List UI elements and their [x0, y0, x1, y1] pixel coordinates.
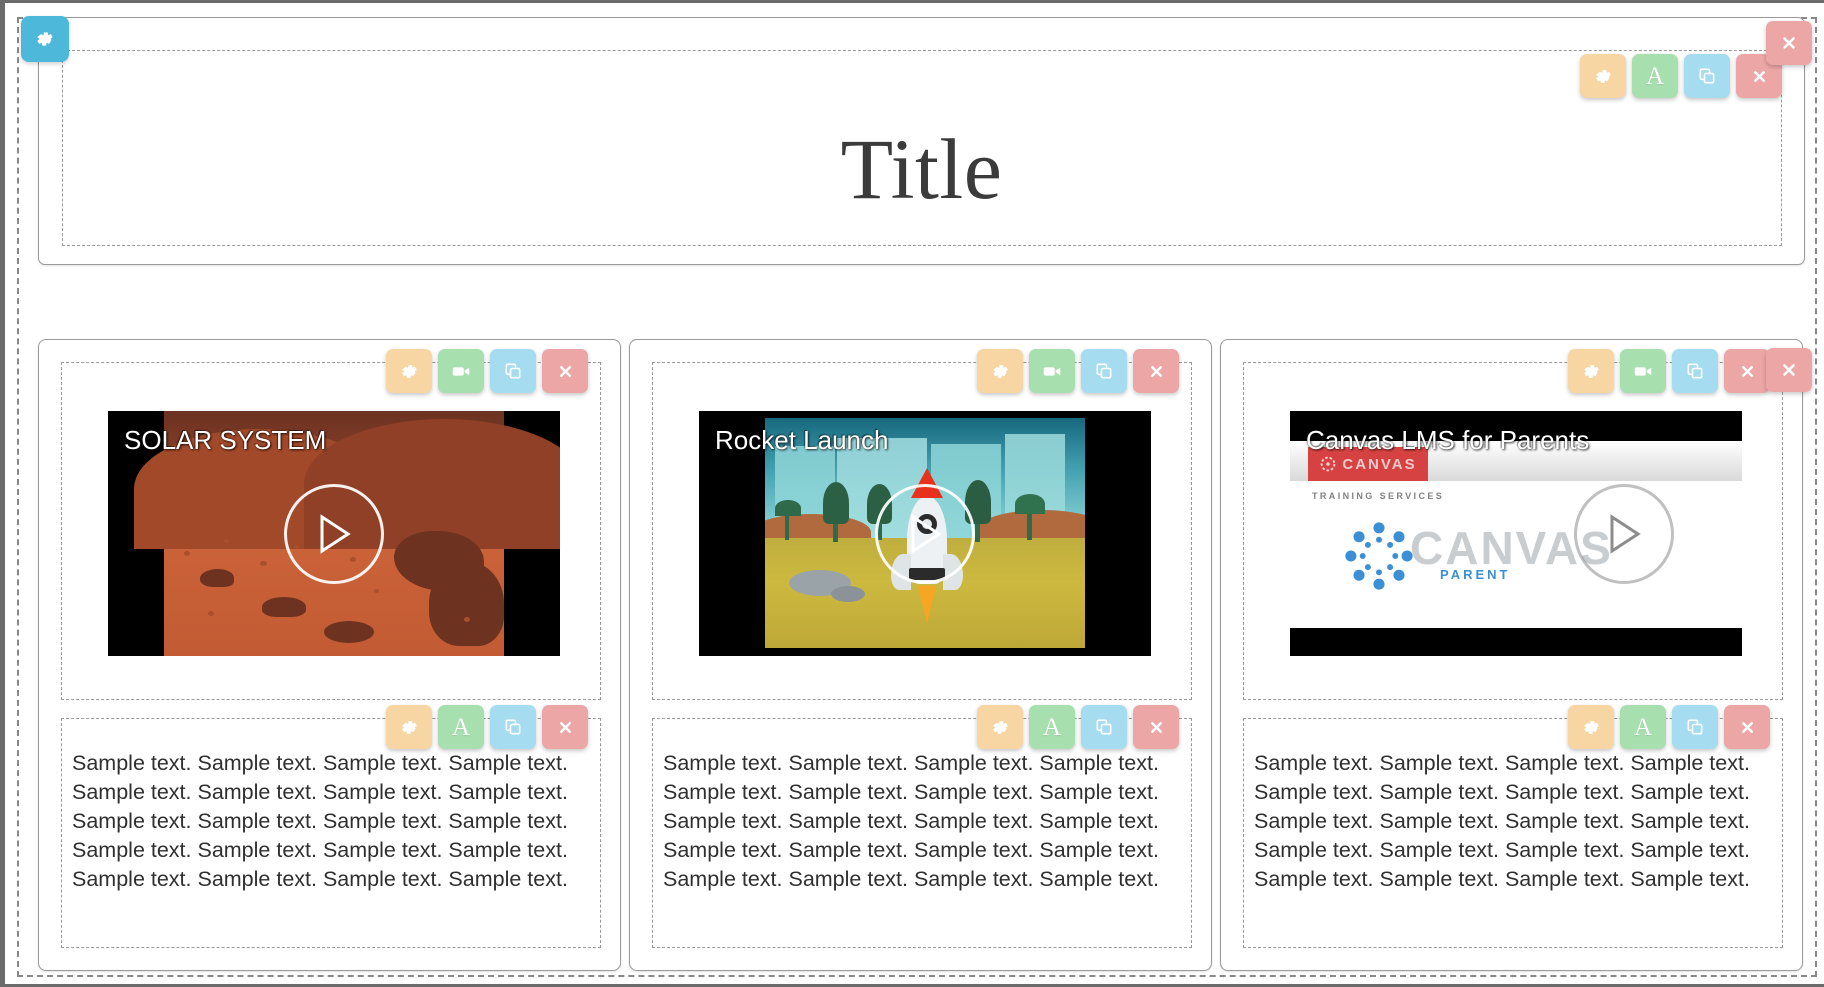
close-cards-section-button[interactable]: [1766, 348, 1812, 392]
duplicate-icon: [1685, 361, 1705, 381]
text-toolbar: A: [386, 705, 588, 749]
text-button[interactable]: A: [438, 705, 484, 749]
close-icon: [1739, 363, 1756, 380]
duplicate-button[interactable]: [1081, 705, 1127, 749]
media-toolbar: [1568, 349, 1770, 393]
video-button[interactable]: [1620, 349, 1666, 393]
gear-icon: [1594, 67, 1613, 86]
card-solar-system[interactable]: SOLAR SYSTEM: [38, 339, 621, 971]
canvas-logo-text: CANVAS: [1342, 456, 1416, 473]
editor-canvas: A Title: [0, 0, 1824, 987]
canvas-parent-label: PARENT: [1440, 567, 1510, 582]
video-button[interactable]: [438, 349, 484, 393]
play-button[interactable]: [875, 484, 975, 584]
gear-icon: [35, 29, 55, 49]
text-format-icon: A: [1043, 715, 1061, 740]
gear-icon: [400, 718, 419, 737]
media-toolbar: [977, 349, 1179, 393]
video-title: SOLAR SYSTEM: [124, 425, 326, 456]
canvas-mark-icon: [1319, 455, 1337, 473]
video-title: Canvas LMS for Parents: [1306, 425, 1589, 456]
text-toolbar: A: [1568, 705, 1770, 749]
card-rocket-launch[interactable]: Rocket Launch: [629, 339, 1212, 971]
text-placeholder[interactable]: A Sample text. Sample text. Sam: [652, 718, 1192, 948]
settings-button[interactable]: [1568, 349, 1614, 393]
play-icon: [314, 512, 354, 556]
duplicate-button[interactable]: [1672, 705, 1718, 749]
media-toolbar: [386, 349, 588, 393]
play-button[interactable]: [284, 484, 384, 584]
video-thumbnail[interactable]: SOLAR SYSTEM: [108, 411, 560, 656]
settings-button[interactable]: [386, 349, 432, 393]
video-camera-icon: [1041, 360, 1063, 382]
gear-icon: [1582, 362, 1601, 381]
canvas-subtitle: TRAINING SERVICES: [1312, 491, 1444, 501]
close-title-section-button[interactable]: [1766, 21, 1812, 65]
delete-button[interactable]: [1724, 705, 1770, 749]
video-camera-icon: [450, 360, 472, 382]
close-icon: [1751, 68, 1768, 85]
text-format-icon: A: [1634, 715, 1652, 740]
text-placeholder[interactable]: A Sample text. Sample text. Sam: [1243, 718, 1783, 948]
text-format-icon: A: [1646, 64, 1664, 89]
duplicate-icon: [1685, 717, 1705, 737]
video-camera-icon: [1632, 360, 1654, 382]
close-icon: [557, 719, 574, 736]
card-canvas-lms[interactable]: CANVAS TRAINING SERVICES: [1220, 339, 1803, 971]
settings-button[interactable]: [977, 349, 1023, 393]
body-text: Sample text. Sample text. Sample text. S…: [1254, 749, 1772, 894]
duplicate-icon: [1094, 717, 1114, 737]
play-icon: [905, 512, 945, 556]
delete-button[interactable]: [542, 705, 588, 749]
duplicate-icon: [1697, 66, 1717, 86]
close-icon: [1780, 34, 1798, 52]
delete-button[interactable]: [1133, 349, 1179, 393]
delete-button[interactable]: [1133, 705, 1179, 749]
canvas-circle-logo-icon: [1342, 519, 1416, 593]
text-placeholder[interactable]: A Sample text. Sample text. Sam: [61, 718, 601, 948]
close-icon: [557, 363, 574, 380]
close-icon: [1148, 719, 1165, 736]
duplicate-button[interactable]: [490, 349, 536, 393]
settings-button[interactable]: [1568, 705, 1614, 749]
cards-row: SOLAR SYSTEM: [38, 339, 1824, 979]
settings-button[interactable]: [1580, 54, 1626, 98]
media-placeholder[interactable]: Rocket Launch: [652, 362, 1192, 700]
video-thumbnail[interactable]: Rocket Launch: [699, 411, 1151, 656]
duplicate-button[interactable]: [1081, 349, 1127, 393]
gear-icon: [991, 718, 1010, 737]
duplicate-icon: [503, 361, 523, 381]
body-text: Sample text. Sample text. Sample text. S…: [72, 749, 590, 894]
video-title: Rocket Launch: [715, 425, 888, 456]
settings-button[interactable]: [977, 705, 1023, 749]
duplicate-icon: [1094, 361, 1114, 381]
duplicate-button[interactable]: [490, 705, 536, 749]
gear-icon: [400, 362, 419, 381]
media-placeholder[interactable]: CANVAS TRAINING SERVICES: [1243, 362, 1783, 700]
video-button[interactable]: [1029, 349, 1075, 393]
text-button[interactable]: A: [1632, 54, 1678, 98]
delete-button[interactable]: [542, 349, 588, 393]
body-text: Sample text. Sample text. Sample text. S…: [663, 749, 1181, 894]
close-icon: [1780, 361, 1798, 379]
settings-button[interactable]: [386, 705, 432, 749]
gear-icon: [1582, 718, 1601, 737]
delete-button[interactable]: [1724, 349, 1770, 393]
play-icon: [1604, 512, 1644, 556]
duplicate-button[interactable]: [1684, 54, 1730, 98]
duplicate-icon: [503, 717, 523, 737]
video-thumbnail[interactable]: CANVAS TRAINING SERVICES: [1290, 411, 1742, 656]
page-title: Title: [39, 126, 1804, 212]
gear-icon: [991, 362, 1010, 381]
page-settings-gear-button[interactable]: [21, 16, 69, 62]
play-button[interactable]: [1574, 484, 1674, 584]
title-toolbar: A: [1580, 54, 1782, 98]
close-icon: [1739, 719, 1756, 736]
media-placeholder[interactable]: SOLAR SYSTEM: [61, 362, 601, 700]
text-format-icon: A: [452, 715, 470, 740]
text-toolbar: A: [977, 705, 1179, 749]
text-button[interactable]: A: [1029, 705, 1075, 749]
close-icon: [1148, 363, 1165, 380]
duplicate-button[interactable]: [1672, 349, 1718, 393]
title-block[interactable]: A Title: [38, 17, 1805, 265]
text-button[interactable]: A: [1620, 705, 1666, 749]
